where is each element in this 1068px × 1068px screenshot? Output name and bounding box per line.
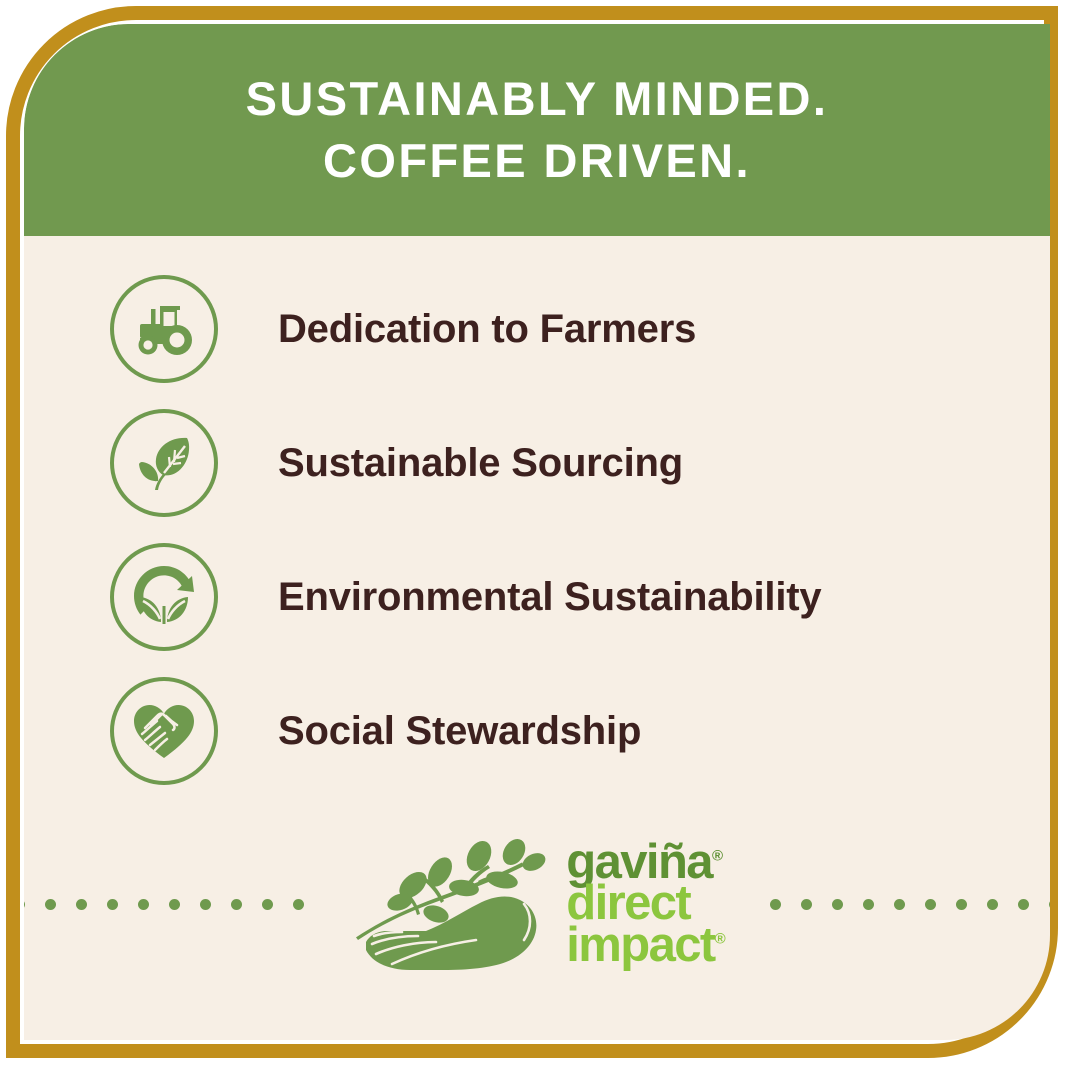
dot [801, 899, 812, 910]
decorative-dots-right [770, 899, 1050, 910]
poster: SUSTAINABLY MINDED. COFFEE DRIVEN. [0, 0, 1068, 1068]
header-band: SUSTAINABLY MINDED. COFFEE DRIVEN. [24, 24, 1050, 236]
footer: gaviña® direct impact® [24, 814, 1050, 994]
dot [76, 899, 87, 910]
dot [770, 899, 781, 910]
feature-label: Dedication to Farmers [278, 307, 696, 352]
feature-item-environmental-sustainability: Environmental Sustainability [24, 530, 1050, 664]
tractor-icon [110, 275, 218, 383]
gavina-direct-impact-logo: gaviña® direct impact® [348, 832, 725, 977]
feature-label: Social Stewardship [278, 709, 641, 754]
dot [45, 899, 56, 910]
feature-item-sustainable-sourcing: Sustainable Sourcing [24, 396, 1050, 530]
registered-mark-icon: ® [715, 930, 726, 947]
logo-wordmark: gaviña® direct impact® [566, 842, 725, 965]
dot [138, 899, 149, 910]
dot [231, 899, 242, 910]
dot [169, 899, 180, 910]
dot [1018, 899, 1029, 910]
feature-label: Sustainable Sourcing [278, 441, 683, 486]
feature-label: Environmental Sustainability [278, 575, 821, 620]
dot [987, 899, 998, 910]
content-card: SUSTAINABLY MINDED. COFFEE DRIVEN. [24, 24, 1050, 1040]
dot [863, 899, 874, 910]
dot [293, 899, 304, 910]
feature-item-dedication-to-farmers: Dedication to Farmers [24, 262, 1050, 396]
dot [956, 899, 967, 910]
hand-holding-branch-icon [348, 832, 558, 977]
decorative-dots-left [24, 899, 304, 910]
dot [1049, 899, 1050, 910]
logo-word-impact-text: impact [566, 918, 714, 972]
headline-line-1: SUSTAINABLY MINDED. [246, 68, 829, 130]
logo-word-impact: impact® [566, 925, 725, 966]
registered-mark-icon: ® [712, 848, 723, 865]
feature-list: Dedication to Farmers [24, 236, 1050, 798]
dot [894, 899, 905, 910]
handshake-heart-icon [110, 677, 218, 785]
feature-item-social-stewardship: Social Stewardship [24, 664, 1050, 798]
dot [832, 899, 843, 910]
dot [24, 899, 25, 910]
dot [925, 899, 936, 910]
dot [262, 899, 273, 910]
dot [107, 899, 118, 910]
recycle-leaf-icon [110, 543, 218, 651]
dot [200, 899, 211, 910]
headline-line-2: COFFEE DRIVEN. [323, 130, 751, 192]
leaf-icon [110, 409, 218, 517]
